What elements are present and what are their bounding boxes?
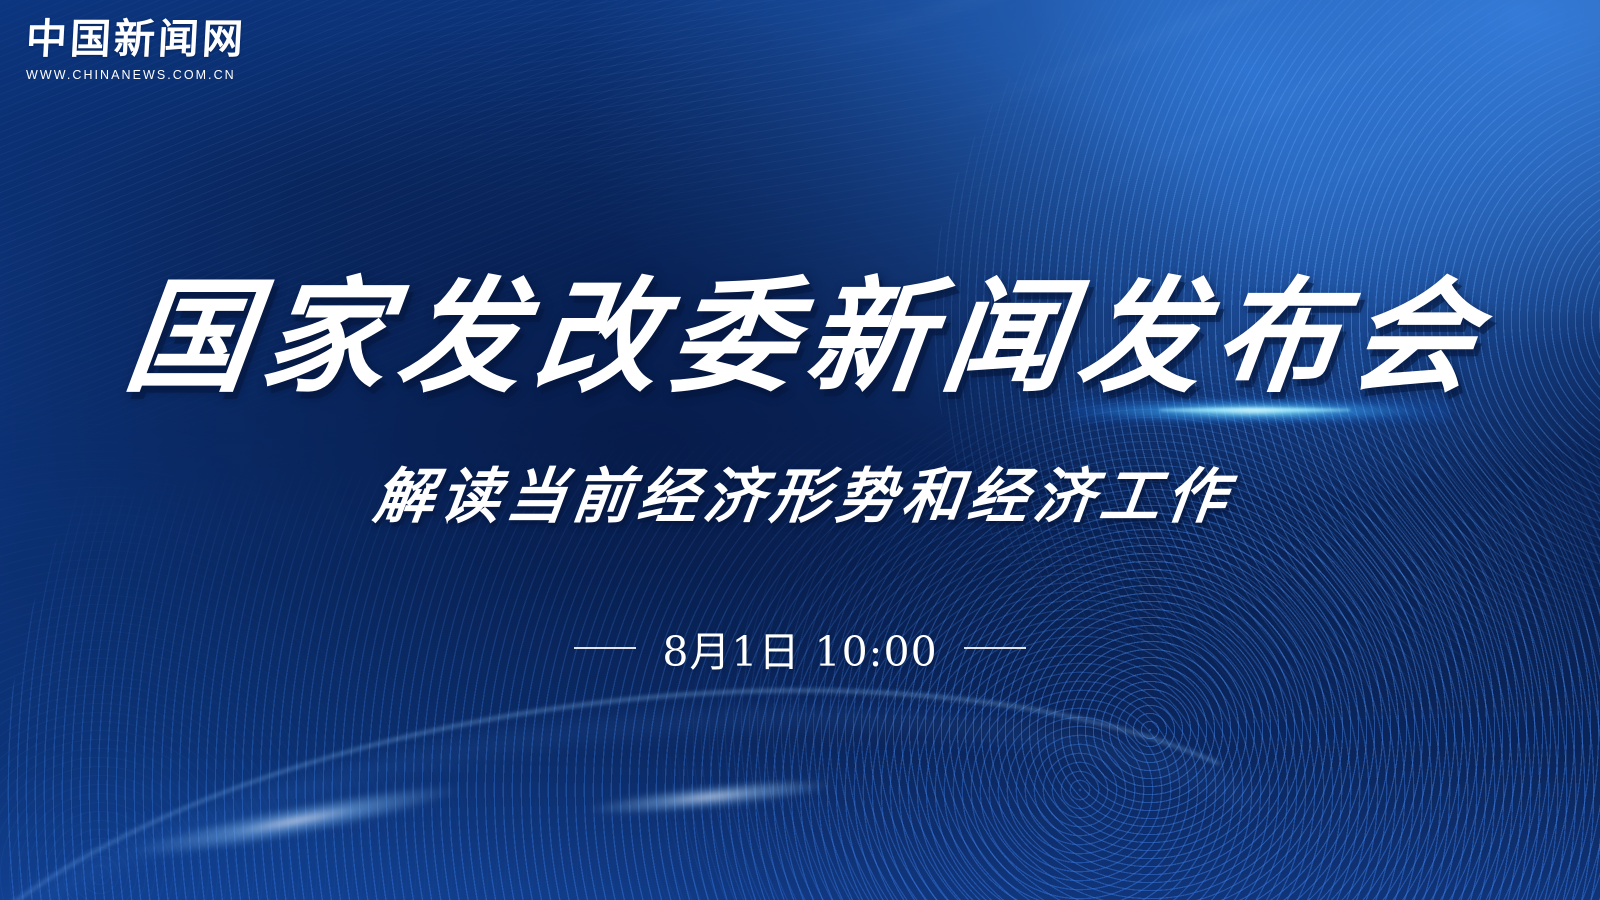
logo-url-text: WWW.CHINANEWS.COM.CN — [26, 68, 246, 82]
date-rule-left — [574, 647, 636, 649]
logo-wordmark: 中国新闻网 — [25, 18, 247, 61]
title-glow-streak-core — [1160, 408, 1350, 412]
chinanews-logo[interactable]: 中国新闻网 WWW.CHINANEWS.COM.CN — [26, 18, 246, 82]
page-title: 国家发改委新闻发布会 — [105, 272, 1495, 406]
date-time-text: 8月1日 10:00 — [662, 618, 937, 678]
page-subtitle: 解读当前经济形势和经济工作 — [0, 448, 1600, 535]
press-conference-poster: 中国新闻网 WWW.CHINANEWS.COM.CN 国家发改委新闻发布会 解读… — [0, 0, 1600, 900]
date-row: 8月1日 10:00 — [0, 618, 1600, 678]
date-rule-right — [964, 647, 1026, 649]
title-block: 国家发改委新闻发布会 — [0, 272, 1600, 406]
